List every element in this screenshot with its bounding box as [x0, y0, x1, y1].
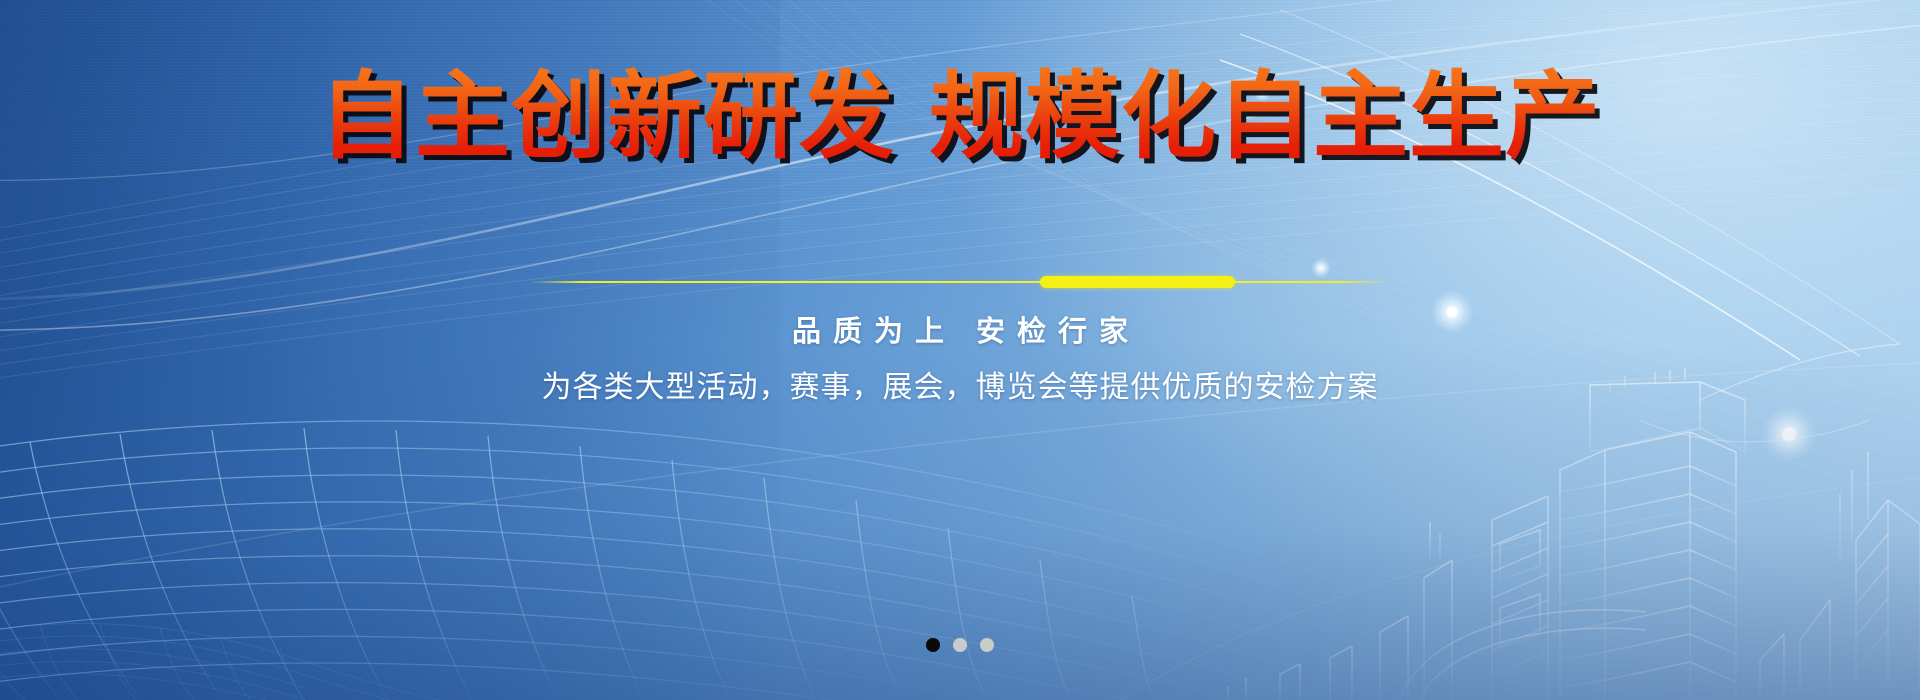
carousel-dot-1[interactable]	[926, 638, 940, 652]
subtitle-main: 品质为上 安检行家	[0, 308, 1920, 350]
carousel-dot-3[interactable]	[980, 638, 994, 652]
hero-banner: 自主创新研发 规模化自主生产 品质为上 安检行家 为各类大型活动，赛事，展会，博…	[0, 0, 1920, 700]
divider	[530, 275, 1390, 289]
carousel-dot-2[interactable]	[953, 638, 967, 652]
headline-container: 自主创新研发 规模化自主生产	[0, 64, 1920, 170]
subtitle-description: 为各类大型活动，赛事，展会，博览会等提供优质的安检方案	[0, 362, 1920, 406]
divider-hairline	[530, 281, 1390, 283]
divider-highlight-segment	[1040, 276, 1235, 288]
page-title: 自主创新研发 规模化自主生产	[319, 64, 1601, 170]
carousel-dots[interactable]	[926, 638, 994, 652]
